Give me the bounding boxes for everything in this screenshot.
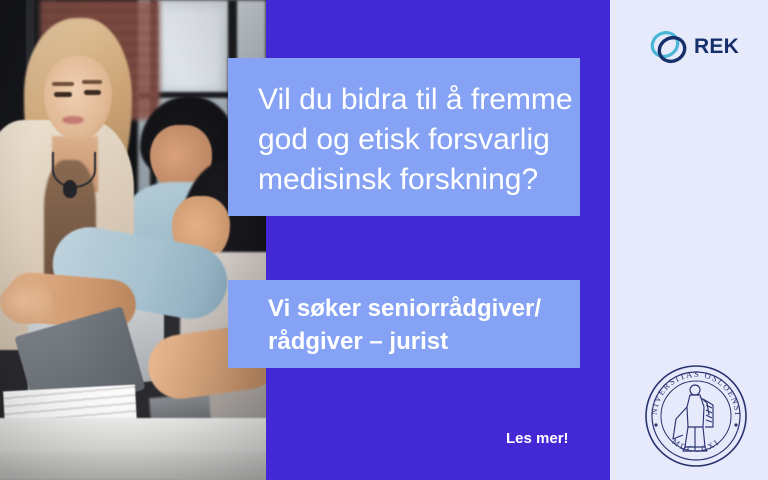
uio-seal-top-text: UNIVERSITAS OSLOENSIS — [643, 363, 743, 417]
photo-vignette — [0, 0, 266, 480]
recruitment-banner: REK UNIVERSITAS OSLOENSIS MDCCCXI — [0, 0, 768, 480]
svg-text:MDCCCXI: MDCCCXI — [670, 437, 722, 454]
subheadline-line-2: rådgiver – jurist — [268, 325, 560, 358]
uio-seal-bottom-text: MDCCCXI — [670, 437, 722, 454]
rek-rings-icon — [648, 27, 692, 67]
headline-line-3: medisinsk forskning? — [258, 160, 554, 200]
headline-line-1: Vil du bidra til å fremme — [258, 80, 554, 120]
read-more-link[interactable]: Les mer! — [506, 430, 569, 447]
subheadline-box: Vi søker seniorrådgiver/ rådgiver – juri… — [228, 280, 580, 368]
subheadline-line-1: Vi søker seniorrådgiver/ — [268, 292, 560, 325]
headline-box: Vil du bidra til å fremme god og etisk f… — [228, 58, 580, 216]
headline-line-2: god og etisk forsvarlig — [258, 120, 554, 160]
rek-logo: REK — [648, 26, 740, 68]
office-collaboration-photo — [0, 0, 266, 480]
svg-text:UNIVERSITAS OSLOENSIS: UNIVERSITAS OSLOENSIS — [643, 363, 743, 417]
uio-seal: UNIVERSITAS OSLOENSIS MDCCCXI — [643, 363, 749, 469]
rek-wordmark: REK — [694, 35, 739, 59]
